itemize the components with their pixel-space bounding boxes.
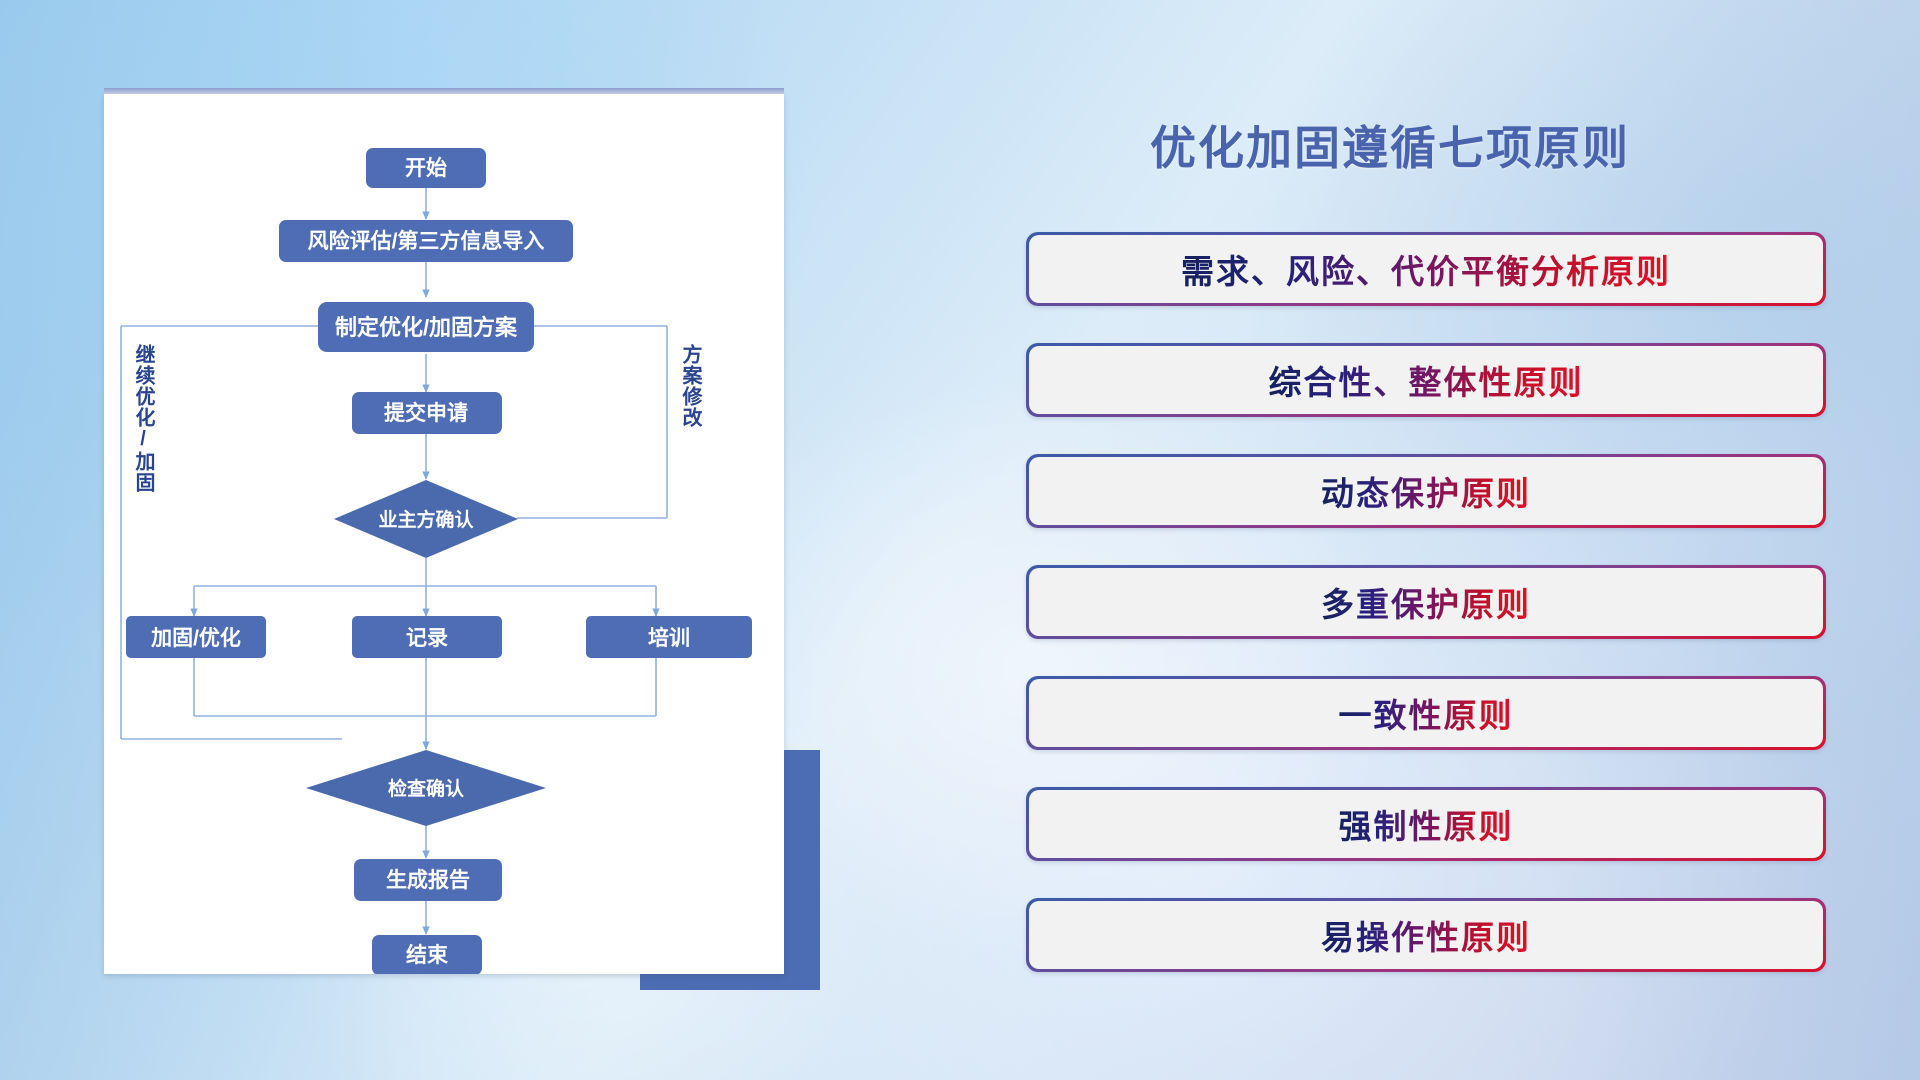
flow-node-plan-label: 制定优化/加固方案 bbox=[335, 315, 518, 340]
principle-item-1-label: 需求、风险、代价平衡分析原则 bbox=[1181, 245, 1671, 293]
principle-item-3[interactable]: 动态保护原则 bbox=[1026, 454, 1826, 528]
principle-item-3-body: 动态保护原则 bbox=[1029, 457, 1823, 525]
flow-node-start-label: 开始 bbox=[405, 156, 447, 180]
principle-item-5[interactable]: 一致性原则 bbox=[1026, 676, 1826, 750]
flow-edge-label-left-loop: 继续优化/加固 bbox=[129, 344, 158, 493]
flow-node-record-label: 记录 bbox=[406, 627, 448, 650]
principle-item-2-label: 综合性、整体性原则 bbox=[1269, 356, 1584, 404]
principle-item-6-label: 强制性原则 bbox=[1339, 800, 1514, 848]
principle-item-4[interactable]: 多重保护原则 bbox=[1026, 565, 1826, 639]
principle-item-1[interactable]: 需求、风险、代价平衡分析原则 bbox=[1026, 232, 1826, 306]
principle-item-2[interactable]: 综合性、整体性原则 bbox=[1026, 343, 1826, 417]
principles-list: 需求、风险、代价平衡分析原则 综合性、整体性原则 动态保护原则 多重保护原则 一… bbox=[1026, 232, 1826, 1009]
flowchart-card: 开始 风险评估/第三方信息导入 制定优化/加固方案 提交申请 业主方确认 加固/… bbox=[104, 94, 784, 974]
flow-node-assess-label: 风险评估/第三方信息导入 bbox=[308, 229, 545, 253]
flow-node-submit-label: 提交申请 bbox=[384, 401, 468, 425]
flow-node-end-label: 结束 bbox=[406, 943, 449, 967]
flow-node-check-confirm-label: 检查确认 bbox=[388, 777, 464, 800]
flowchart-diagram: 开始 风险评估/第三方信息导入 制定优化/加固方案 提交申请 业主方确认 加固/… bbox=[104, 94, 784, 974]
principle-item-5-body: 一致性原则 bbox=[1029, 679, 1823, 747]
panel-title: 优化加固遵循七项原则 bbox=[1150, 112, 1630, 178]
principle-item-5-label: 一致性原则 bbox=[1339, 689, 1514, 737]
principle-item-4-body: 多重保护原则 bbox=[1029, 568, 1823, 636]
flow-edge-label-right-loop: 方案修改 bbox=[676, 344, 705, 428]
flow-node-report-label: 生成报告 bbox=[386, 868, 470, 892]
principle-item-6-body: 强制性原则 bbox=[1029, 790, 1823, 858]
principle-item-4-label: 多重保护原则 bbox=[1321, 578, 1531, 626]
principles-panel: 优化加固遵循七项原则 需求、风险、代价平衡分析原则 综合性、整体性原则 动态保护… bbox=[1010, 0, 1920, 1080]
principle-item-6[interactable]: 强制性原则 bbox=[1026, 787, 1826, 861]
principle-item-7-label: 易操作性原则 bbox=[1321, 911, 1531, 959]
principle-item-1-body: 需求、风险、代价平衡分析原则 bbox=[1029, 235, 1823, 303]
principle-item-7-body: 易操作性原则 bbox=[1029, 901, 1823, 969]
flow-node-train-label: 培训 bbox=[648, 626, 690, 650]
principle-item-7[interactable]: 易操作性原则 bbox=[1026, 898, 1826, 972]
flow-node-owner-confirm-label: 业主方确认 bbox=[378, 508, 473, 531]
principle-item-2-body: 综合性、整体性原则 bbox=[1029, 346, 1823, 414]
flow-node-reinforce-label: 加固/优化 bbox=[150, 626, 241, 650]
principle-item-3-label: 动态保护原则 bbox=[1321, 467, 1531, 515]
